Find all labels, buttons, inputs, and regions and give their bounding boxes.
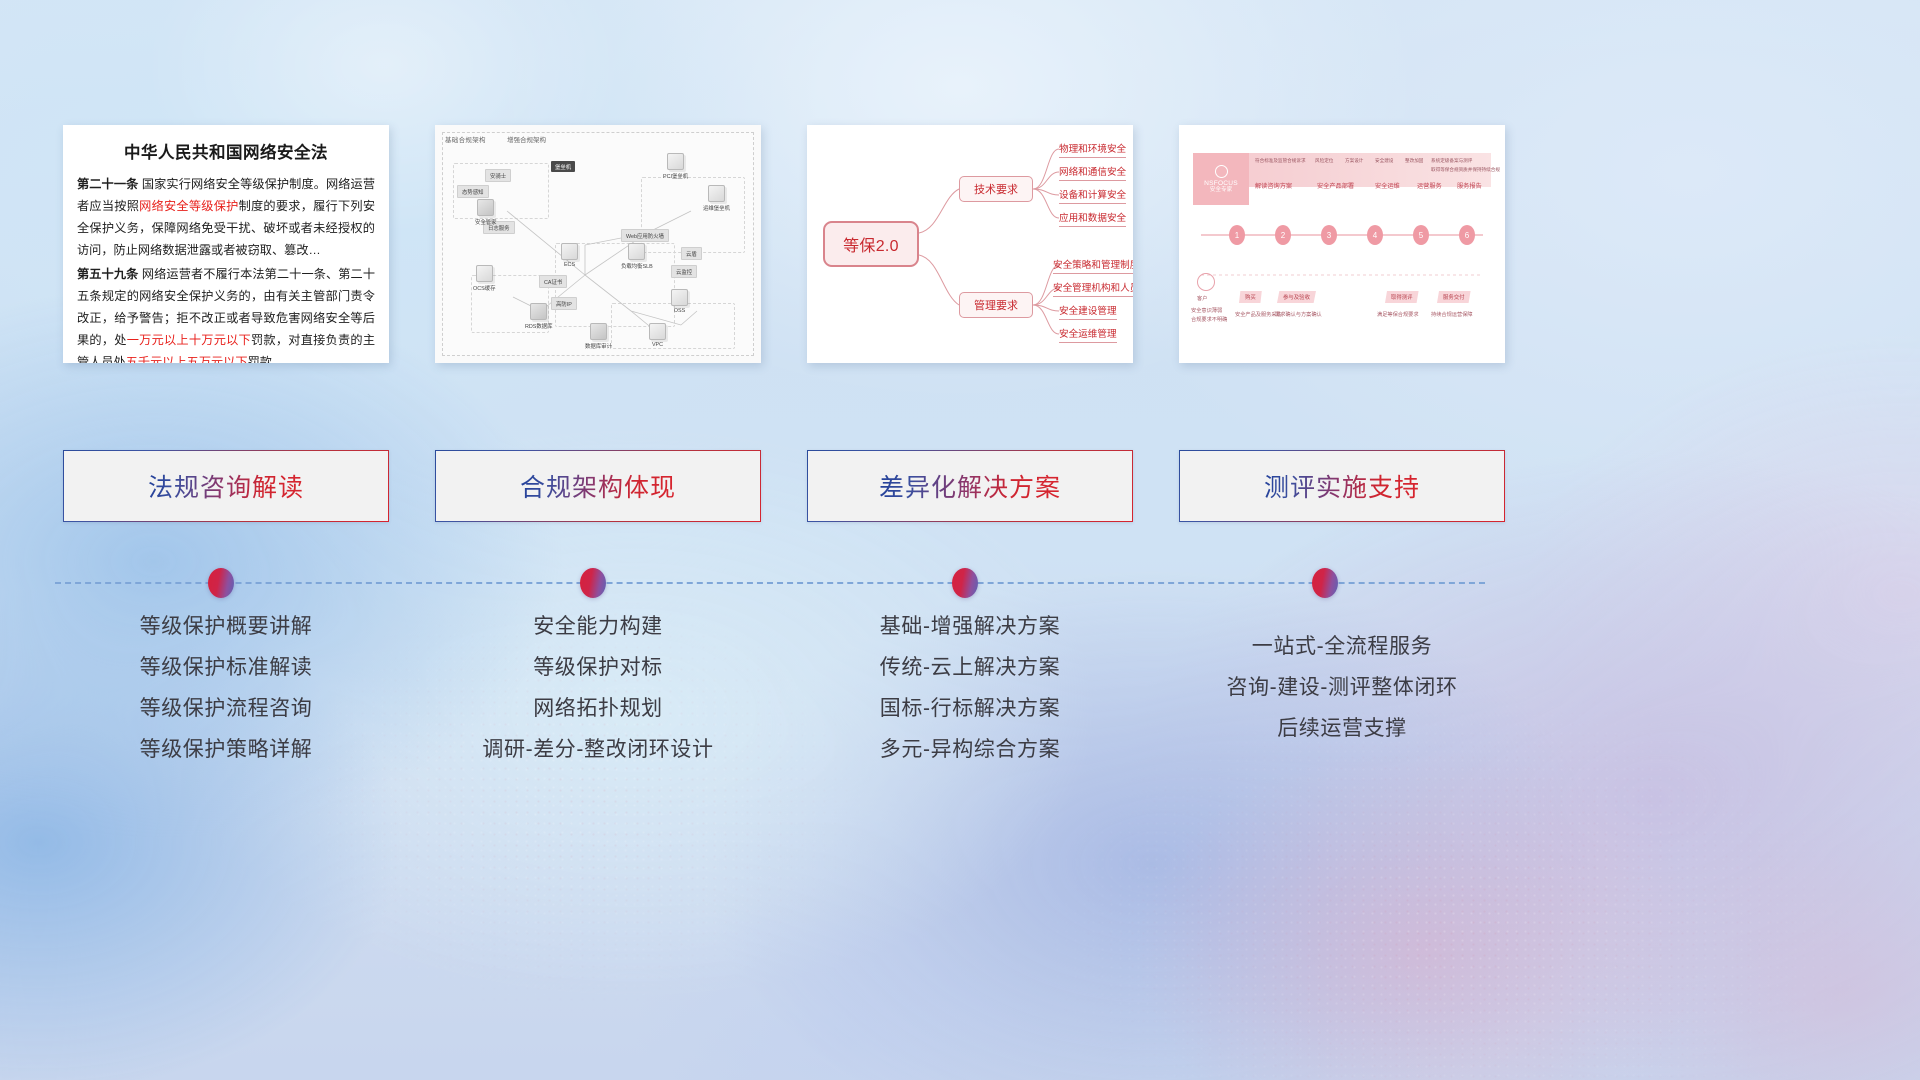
list-item: 等级保护策略详解 bbox=[63, 729, 389, 770]
law-article-21: 第二十一条 国家实行网络安全等级保护制度。网络运营者应当按照网络安全等级保护制度… bbox=[77, 173, 375, 261]
article-21-highlight: 网络安全等级保护 bbox=[139, 199, 238, 213]
arch-chip-3: CA证书 bbox=[539, 275, 567, 288]
arch-node-1-label: 运维堡垒机 bbox=[703, 204, 730, 212]
headline-label-0: 法规咨询解读 bbox=[148, 468, 304, 504]
list-item: 网络拓扑规划 bbox=[435, 688, 761, 729]
ns-step-2: 3 bbox=[1321, 225, 1337, 245]
arch-node-7: VPC bbox=[649, 323, 666, 348]
arch-node-6: RDS数据库 bbox=[525, 303, 553, 330]
law-text-card: 中华人民共和国网络安全法 第二十一条 国家实行网络安全等级保护制度。网络运营者应… bbox=[63, 125, 389, 363]
mindmap-card: 等保2.0 技术要求 管理要求 物理和环境安全 网络和通信安全 设备和计算安全 … bbox=[807, 125, 1133, 363]
ns-note-1: 合规要求不明确 bbox=[1191, 316, 1227, 323]
arch-chip-0: 堡垒机 bbox=[551, 161, 575, 172]
timeline-dot-0[interactable] bbox=[208, 568, 234, 598]
arch-chip-1: Web应用防火墙 bbox=[621, 229, 669, 242]
mindmap-leaf-m2: 安全建设管理 bbox=[1059, 303, 1117, 320]
list-item: 一站式-全流程服务 bbox=[1179, 626, 1505, 667]
list-item: 多元-异构综合方案 bbox=[807, 729, 1133, 770]
list-item: 传统-云上解决方案 bbox=[807, 647, 1133, 688]
list-item: 等级保护流程咨询 bbox=[63, 688, 389, 729]
ns-timeline-track bbox=[1179, 125, 1505, 363]
list-item: 等级保护标准解读 bbox=[63, 647, 389, 688]
ns-step-4: 5 bbox=[1413, 225, 1429, 245]
list-item: 等级保护概要讲解 bbox=[63, 606, 389, 647]
headline-box-regulation-consulting[interactable]: 法规咨询解读 bbox=[63, 450, 389, 522]
mindmap-leaf-m1: 安全管理机构和人员 bbox=[1053, 280, 1133, 297]
article-21-label: 第二十一条 bbox=[77, 177, 138, 191]
list-item: 国标-行标解决方案 bbox=[807, 688, 1133, 729]
arch-chip-4: 高防IP bbox=[551, 297, 577, 310]
article-59-highlight-1: 一万元以上十万元以下 bbox=[127, 333, 251, 347]
detail-column-row: 等级保护概要讲解 等级保护标准解读 等级保护流程咨询 等级保护策略详解 安全能力… bbox=[63, 606, 1478, 786]
article-59-highlight-2: 五千元以上五万元以下 bbox=[126, 355, 248, 363]
list-item: 调研-差分-整改闭环设计 bbox=[435, 729, 761, 770]
ns-step-1: 2 bbox=[1275, 225, 1291, 245]
law-card-title: 中华人民共和国网络安全法 bbox=[77, 139, 375, 163]
ns-step-5: 6 bbox=[1459, 225, 1475, 245]
ns-step-3: 4 bbox=[1367, 225, 1383, 245]
ns-tag-1: 参与及验收 bbox=[1277, 291, 1316, 303]
detail-column-2: 基础-增强解决方案 传统-云上解决方案 国标-行标解决方案 多元-异构综合方案 bbox=[807, 606, 1133, 786]
headline-box-row: 法规咨询解读 合规架构体现 差异化解决方案 测评实施支持 bbox=[63, 450, 1478, 522]
arch-node-4: 负载均衡SLB bbox=[621, 243, 653, 270]
mindmap-leaf-m0: 安全策略和管理制度 bbox=[1053, 257, 1133, 274]
arch-node-9-label: 数据库审计 bbox=[585, 342, 612, 350]
article-59-text-3: 罚款。 bbox=[248, 355, 285, 363]
timeline-dot-2[interactable] bbox=[952, 568, 978, 598]
arch-chip-2: 云盾 bbox=[681, 247, 702, 260]
ns-tag-note-1: 需求确认与方案确认 bbox=[1275, 311, 1322, 318]
arch-node-2: 安全管家 bbox=[475, 199, 497, 226]
arch-node-1: 运维堡垒机 bbox=[703, 185, 730, 212]
law-article-59: 第五十九条 网络运营者不履行本法第二十一条、第二十五条规定的网络安全保护义务的，… bbox=[77, 263, 375, 363]
arch-node-0-label: PCI堡垒机 bbox=[663, 172, 688, 180]
headline-label-1: 合规架构体现 bbox=[520, 468, 676, 504]
ns-customer-label: 客户 bbox=[1197, 295, 1207, 302]
mindmap-leaf-m3: 安全运维管理 bbox=[1059, 326, 1117, 343]
arch-node-2-label: 安全管家 bbox=[475, 218, 497, 226]
headline-box-assessment-support[interactable]: 测评实施支持 bbox=[1179, 450, 1505, 522]
arch-node-3: ECS bbox=[561, 243, 578, 268]
ns-customer-avatar-icon bbox=[1197, 273, 1215, 291]
arch-node-4-label: 负载均衡SLB bbox=[621, 262, 653, 270]
headline-box-compliance-architecture[interactable]: 合规架构体现 bbox=[435, 450, 761, 522]
ns-note-0: 安全意识薄弱 bbox=[1191, 307, 1222, 314]
ns-tag-note-3: 持续合规运营保障 bbox=[1431, 311, 1473, 318]
arch-chip-6: 安骑士 bbox=[485, 169, 511, 182]
mindmap-leaf-t1: 网络和通信安全 bbox=[1059, 164, 1126, 181]
arch-node-0: PCI堡垒机 bbox=[663, 153, 688, 180]
list-item: 后续运营支撑 bbox=[1179, 708, 1505, 749]
arch-chip-7: 云监控 bbox=[671, 265, 697, 278]
list-item: 基础-增强解决方案 bbox=[807, 606, 1133, 647]
mindmap-branch-technical: 技术要求 bbox=[959, 176, 1033, 202]
arch-node-5: OSS bbox=[671, 289, 688, 314]
mindmap-branch-management: 管理要求 bbox=[959, 292, 1033, 318]
headline-box-differentiated-solution[interactable]: 差异化解决方案 bbox=[807, 450, 1133, 522]
architecture-diagram-card: 基础合规架构 增强合规架构 堡垒机 bbox=[435, 125, 761, 363]
ns-tag-0: 购买 bbox=[1239, 291, 1262, 303]
headline-label-3: 测评实施支持 bbox=[1264, 468, 1420, 504]
list-item: 咨询-建设-测评整体闭环 bbox=[1179, 667, 1505, 708]
ns-tag-3: 服务交付 bbox=[1437, 291, 1471, 303]
illustration-card-row: 中华人民共和国网络安全法 第二十一条 国家实行网络安全等级保护制度。网络运营者应… bbox=[63, 125, 1478, 363]
arch-node-7-label: VPC bbox=[652, 342, 663, 348]
arch-node-5-label: OSS bbox=[674, 308, 685, 314]
arch-node-3-label: ECS bbox=[564, 262, 575, 268]
arch-node-8: OCS缓存 bbox=[473, 265, 495, 292]
detail-column-0: 等级保护概要讲解 等级保护标准解读 等级保护流程咨询 等级保护策略详解 bbox=[63, 606, 389, 786]
timeline-dot-3[interactable] bbox=[1312, 568, 1338, 598]
timeline-dot-1[interactable] bbox=[580, 568, 606, 598]
ns-tag-2: 取得测评 bbox=[1385, 291, 1419, 303]
arch-node-9: 数据库审计 bbox=[585, 323, 612, 350]
list-item: 等级保护对标 bbox=[435, 647, 761, 688]
article-59-label: 第五十九条 bbox=[77, 267, 138, 281]
detail-column-1: 安全能力构建 等级保护对标 网络拓扑规划 调研-差分-整改闭环设计 bbox=[435, 606, 761, 786]
headline-label-2: 差异化解决方案 bbox=[879, 468, 1061, 504]
list-item: 安全能力构建 bbox=[435, 606, 761, 647]
mindmap-root-node: 等保2.0 bbox=[823, 221, 919, 267]
arch-node-6-label: RDS数据库 bbox=[525, 322, 553, 330]
detail-column-3: 一站式-全流程服务 咨询-建设-测评整体闭环 后续运营支撑 bbox=[1179, 606, 1505, 786]
arch-chip-5: 态势感知 bbox=[457, 185, 489, 198]
timeline bbox=[55, 568, 1485, 598]
ns-tag-note-2: 满足等保合规要求 bbox=[1377, 311, 1419, 318]
mindmap-leaf-t3: 应用和数据安全 bbox=[1059, 210, 1126, 227]
timeline-dashed-line bbox=[55, 582, 1485, 584]
arch-node-8-label: OCS缓存 bbox=[473, 284, 495, 292]
mindmap-leaf-t2: 设备和计算安全 bbox=[1059, 187, 1126, 204]
nsfocus-service-card: NSFOCUS 安全专家 符合标准及监管合规诉求 风险定位 方案设计 安全建设 … bbox=[1179, 125, 1505, 363]
mindmap-leaf-t0: 物理和环境安全 bbox=[1059, 141, 1126, 158]
ns-step-0: 1 bbox=[1229, 225, 1245, 245]
